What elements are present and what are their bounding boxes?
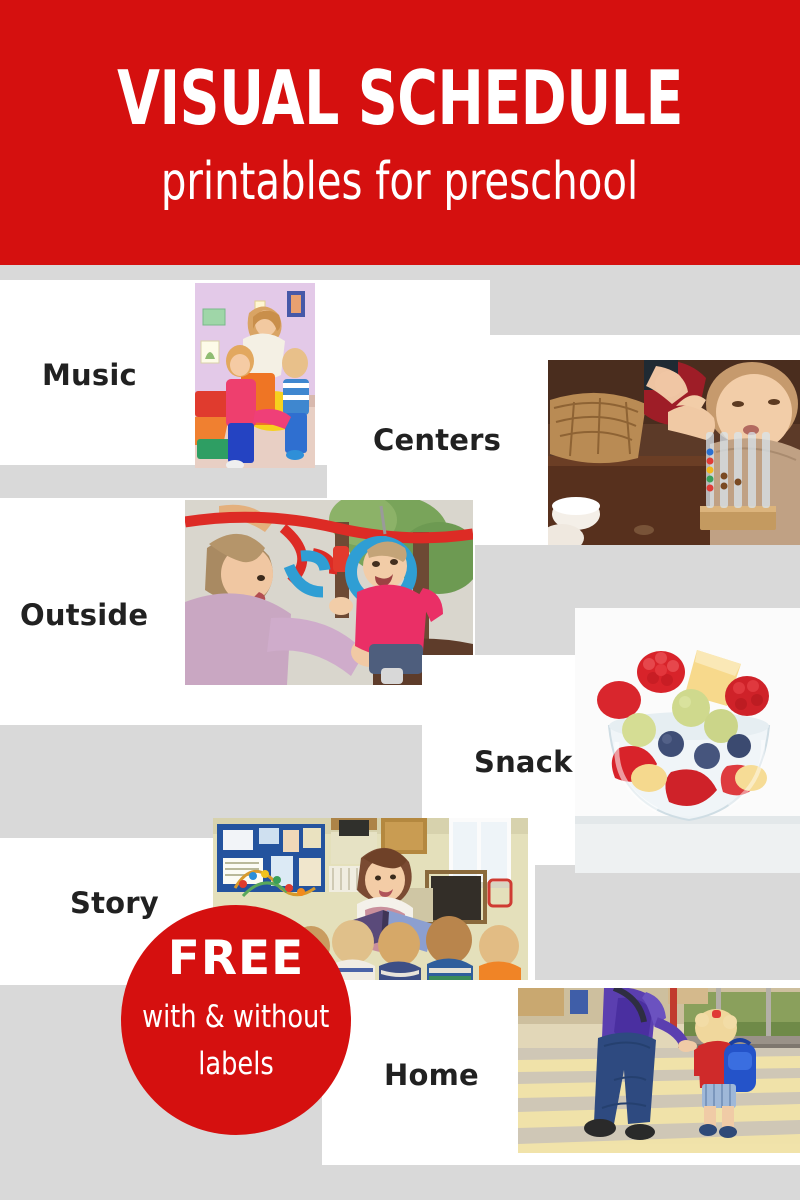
card-label-centers: Centers xyxy=(373,423,501,457)
free-badge-line-2: with & without xyxy=(142,1002,329,1033)
free-badge[interactable]: FREE with & without labels xyxy=(121,905,351,1135)
page-title: VISUAL SCHEDULE xyxy=(117,63,683,134)
card-label-outside: Outside xyxy=(20,598,148,632)
centers-photo xyxy=(548,360,800,545)
music-photo xyxy=(195,283,315,468)
snack-photo xyxy=(575,608,800,873)
schedule-board: Music xyxy=(0,265,800,1200)
card-label-snack: Snack xyxy=(474,745,573,779)
card-label-home: Home xyxy=(384,1058,479,1092)
page-subtitle: printables for preschool xyxy=(161,156,638,208)
card-label-story: Story xyxy=(70,886,159,920)
free-badge-line-3: labels xyxy=(198,1049,273,1080)
card-label-music: Music xyxy=(42,358,137,392)
header-banner: VISUAL SCHEDULE printables for preschool xyxy=(0,0,800,265)
home-photo xyxy=(518,988,800,1153)
free-badge-headline: FREE xyxy=(168,935,305,982)
